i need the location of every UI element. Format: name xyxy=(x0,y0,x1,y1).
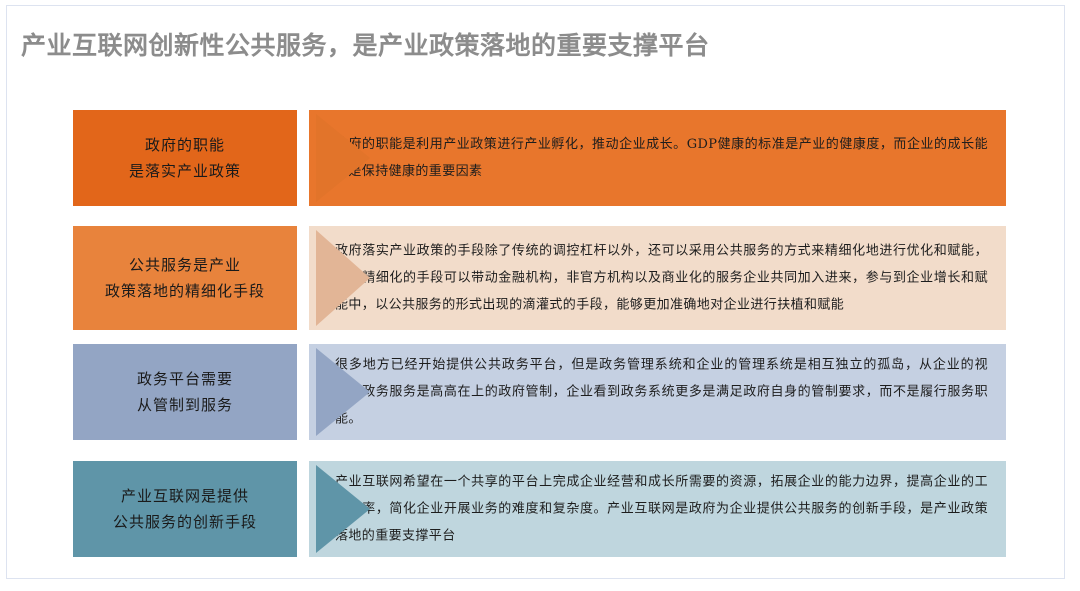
row-label-box[interactable]: 公共服务是产业 政策落地的精细化手段 xyxy=(73,226,297,330)
diagram-row: 产业互联网是提供 公共服务的创新手段 产业互联网希望在一个共享的平台上完成企业经… xyxy=(73,461,1006,557)
diagram-row: 政务平台需要 从管制到服务 很多地方已经开始提供公共政务平台，但是政务管理系统和… xyxy=(73,344,1006,440)
row-body-text: 政府落实产业政策的手段除了传统的调控杠杆以外，还可以采用公共服务的方式来精细化地… xyxy=(335,238,988,319)
slide-canvas: 产业互联网创新性公共服务，是产业政策落地的重要支撑平台 政府的职能 是落实产业政… xyxy=(6,5,1065,579)
row-body-panel: 政府的职能是利用产业政策进行产业孵化，推动企业成长。GDP健康的标准是产业的健康… xyxy=(309,110,1006,206)
row-label-box[interactable]: 产业互联网是提供 公共服务的创新手段 xyxy=(73,461,297,557)
row-label-line-1: 公共服务是产业 xyxy=(129,252,241,278)
page-title: 产业互联网创新性公共服务，是产业政策落地的重要支撑平台 xyxy=(21,26,710,62)
row-label-line-2: 政策落地的精细化手段 xyxy=(105,278,265,304)
arrow-right-icon xyxy=(316,348,370,436)
row-label-line-1: 政务平台需要 xyxy=(137,366,233,392)
arrow-right-icon xyxy=(316,465,370,553)
row-label-line-1: 产业互联网是提供 xyxy=(121,483,249,509)
row-label-box[interactable]: 政府的职能 是落实产业政策 xyxy=(73,110,297,206)
row-label-line-2: 公共服务的创新手段 xyxy=(113,509,257,535)
row-label-line-1: 政府的职能 xyxy=(145,132,225,158)
arrow-triangle xyxy=(316,465,370,553)
arrow-triangle xyxy=(316,348,370,436)
row-label-line-2: 是落实产业政策 xyxy=(129,158,241,184)
row-label-box[interactable]: 政务平台需要 从管制到服务 xyxy=(73,344,297,440)
row-body-panel: 产业互联网希望在一个共享的平台上完成企业经营和成长所需要的资源，拓展企业的能力边… xyxy=(309,461,1006,557)
arrow-right-icon xyxy=(316,230,370,326)
row-body-text: 政府的职能是利用产业政策进行产业孵化，推动企业成长。GDP健康的标准是产业的健康… xyxy=(335,131,988,185)
arrow-triangle xyxy=(316,114,370,202)
row-label-line-2: 从管制到服务 xyxy=(137,392,233,418)
row-body-text: 产业互联网希望在一个共享的平台上完成企业经营和成长所需要的资源，拓展企业的能力边… xyxy=(335,469,988,550)
diagram-row: 公共服务是产业 政策落地的精细化手段 政府落实产业政策的手段除了传统的调控杠杆以… xyxy=(73,226,1006,330)
arrow-triangle xyxy=(316,230,370,326)
arrow-right-icon xyxy=(316,114,370,202)
row-body-text: 很多地方已经开始提供公共政务平台，但是政务管理系统和企业的管理系统是相互独立的孤… xyxy=(335,352,988,433)
diagram-row: 政府的职能 是落实产业政策 政府的职能是利用产业政策进行产业孵化，推动企业成长。… xyxy=(73,110,1006,206)
row-body-panel: 政府落实产业政策的手段除了传统的调控杠杆以外，还可以采用公共服务的方式来精细化地… xyxy=(309,226,1006,330)
row-body-panel: 很多地方已经开始提供公共政务平台，但是政务管理系统和企业的管理系统是相互独立的孤… xyxy=(309,344,1006,440)
